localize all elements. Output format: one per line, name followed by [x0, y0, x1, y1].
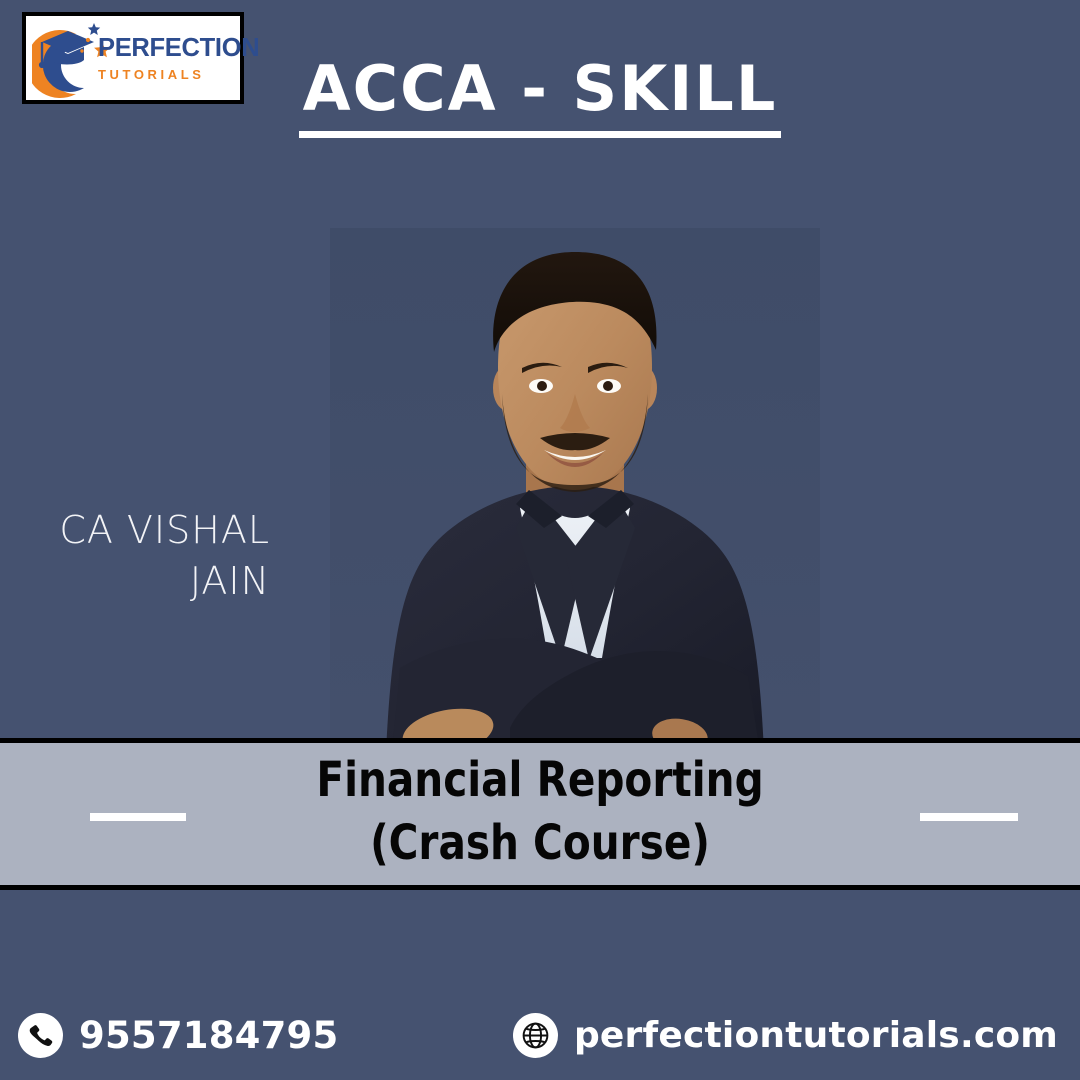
banner-dash-right: [920, 813, 1018, 821]
instructor-name-line1: CA VISHAL: [40, 505, 270, 556]
headline-text: ACCA - SKILL: [299, 56, 782, 138]
course-title-line1: Financial Reporting: [32, 749, 1047, 812]
website-url: perfectiontutorials.com: [574, 1015, 1058, 1056]
headline: ACCA - SKILL: [0, 56, 1080, 138]
phone-number: 9557184795: [79, 1014, 338, 1057]
course-banner: Financial Reporting (Crash Course): [0, 738, 1080, 890]
instructor-name: CA VISHAL JAIN: [40, 505, 270, 608]
contact-phone[interactable]: 9557184795: [18, 1013, 338, 1058]
globe-icon: [513, 1013, 558, 1058]
instructor-name-line2: JAIN: [40, 556, 270, 607]
banner-dash-left: [90, 813, 186, 821]
instructor-photo: [330, 228, 820, 752]
phone-icon: [18, 1013, 63, 1058]
course-poster: PERFECTION TUTORIALS ACCA - SKILL: [0, 0, 1080, 1080]
course-title-line2: (Crash Course): [32, 812, 1047, 875]
contact-website[interactable]: perfectiontutorials.com: [513, 1013, 1058, 1058]
